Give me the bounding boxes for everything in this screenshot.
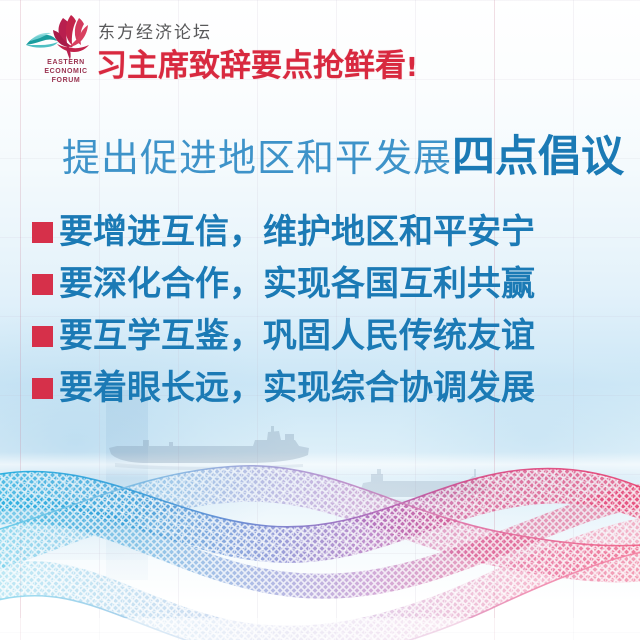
- page-title-light: 提出促进地区和平发展: [62, 136, 452, 180]
- logo-subtitle-line-1: EASTERN: [37, 58, 95, 67]
- list-item-label: 要着眼长远，实现综合协调发展: [59, 371, 535, 405]
- poster-canvas: EASTERN ECONOMIC FORUM 东方经济论坛 习主席致辞要点抢鲜看…: [0, 0, 640, 640]
- red-square-bullet-icon: [32, 222, 53, 243]
- list-item: 要深化合作，实现各国互利共赢: [32, 258, 612, 310]
- brand-headline-text: 习主席致辞要点抢鲜看: [96, 48, 406, 84]
- bullet-list: 要增进互信，维护地区和平安宁 要深化合作，实现各国互利共赢 要互学互鉴，巩固人民…: [32, 206, 612, 414]
- red-square-bullet-icon: [32, 378, 53, 399]
- red-square-bullet-icon: [32, 326, 53, 347]
- header: EASTERN ECONOMIC FORUM 东方经济论坛 习主席致辞要点抢鲜看…: [0, 0, 640, 100]
- list-item-label: 要深化合作，实现各国互利共赢: [59, 267, 535, 301]
- logo-subtitle-line-2: ECONOMIC: [37, 67, 95, 76]
- mesh-ribbon-decoration: [0, 440, 640, 640]
- brand-headline-exclamation: !: [406, 53, 418, 83]
- logo-subtitle-line-3: FORUM: [37, 76, 95, 85]
- page-title: 提出促进地区和平发展四点倡议: [62, 122, 624, 184]
- eastern-economic-forum-logo-icon: [24, 12, 92, 64]
- list-item-label: 要增进互信，维护地区和平安宁: [59, 215, 535, 249]
- page-title-bold: 四点倡议: [452, 132, 624, 182]
- list-item-label: 要互学互鉴，巩固人民传统友谊: [59, 319, 535, 353]
- brand-headline: 习主席致辞要点抢鲜看!: [96, 40, 418, 85]
- list-item: 要着眼长远，实现综合协调发展: [32, 362, 612, 414]
- list-item: 要增进互信，维护地区和平安宁: [32, 206, 612, 258]
- logo-subtitle: EASTERN ECONOMIC FORUM: [37, 58, 95, 85]
- red-square-bullet-icon: [32, 274, 53, 295]
- list-item: 要互学互鉴，巩固人民传统友谊: [32, 310, 612, 362]
